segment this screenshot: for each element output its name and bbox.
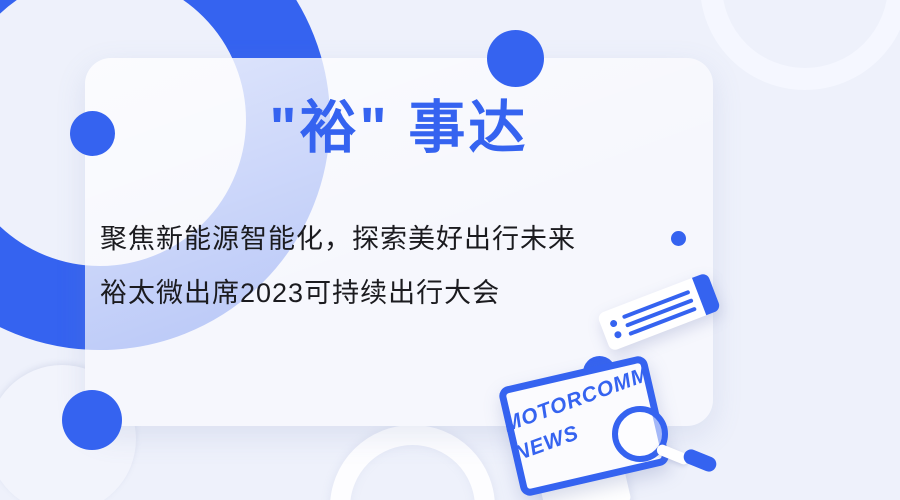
news-banner: "裕" 事达 聚焦新能源智能化，探索美好出行未来 裕太微出席2023可持续出行大… [0,0,900,500]
subtitle-block: 聚焦新能源智能化，探索美好出行未来 裕太微出席2023可持续出行大会 [100,212,670,320]
subtitle-line-2: 裕太微出席2023可持续出行大会 [100,266,670,320]
ticket-dot-1 [609,319,618,328]
subtitle-line-1: 聚焦新能源智能化，探索美好出行未来 [100,212,670,266]
embossed-ring-top-right [700,0,900,90]
ticket-dot-2 [613,330,622,339]
blue-dot-top [487,30,544,87]
page-title: "裕" 事达 [85,96,713,162]
embossed-ring-bottom [330,425,495,500]
blue-dot-inline [671,231,686,246]
blue-dot-bottom-left [62,390,122,450]
